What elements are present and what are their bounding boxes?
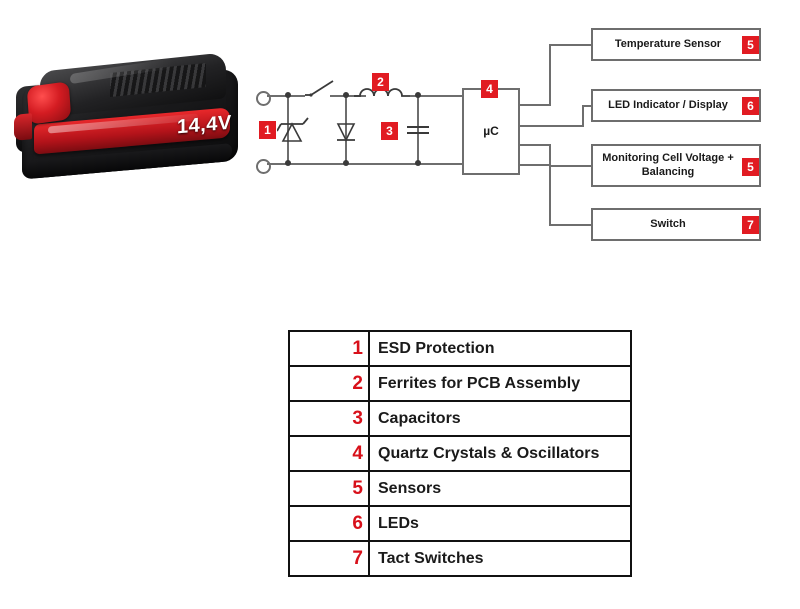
- wire-into-led: [582, 105, 591, 107]
- block-temperature-sensor-label: Temperature Sensor: [615, 38, 721, 52]
- wire-mcu-out-3: [520, 144, 551, 146]
- block-temperature-sensor[interactable]: Temperature Sensor: [591, 28, 761, 61]
- legend-row: 6 LEDs: [290, 507, 630, 542]
- badge-component-1: 1: [259, 121, 276, 139]
- legend-number: 7: [290, 542, 370, 575]
- node-tvs-top: [285, 92, 291, 98]
- wire-mcu-out-1: [520, 104, 551, 106]
- legend-row: 5 Sensors: [290, 472, 630, 507]
- badge-block-switch: 7: [742, 216, 759, 234]
- legend-number: 3: [290, 402, 370, 435]
- block-led-indicator[interactable]: LED Indicator / Display: [591, 89, 761, 122]
- legend-text: LEDs: [370, 507, 630, 540]
- node-diode-bottom: [343, 160, 349, 166]
- wire-mcu-out-4: [520, 164, 551, 166]
- battery-release-button: [27, 81, 72, 125]
- tvs-diode-symbol: [277, 110, 313, 150]
- switch-symbol: [303, 78, 337, 102]
- battery-voltage-label: 14,4V: [177, 112, 232, 140]
- capacitor-symbol: [405, 118, 431, 142]
- node-diode-top: [343, 92, 349, 98]
- block-switch-label: Switch: [650, 218, 685, 232]
- wire-riser-4: [549, 164, 551, 226]
- wire-bottom-rail: [267, 163, 463, 165]
- legend-table: 1 ESD Protection 2 Ferrites for PCB Asse…: [288, 330, 632, 577]
- legend-number: 1: [290, 332, 370, 365]
- legend-text: Capacitors: [370, 402, 630, 435]
- block-led-indicator-label: LED Indicator / Display: [608, 99, 728, 113]
- block-switch[interactable]: Switch: [591, 208, 761, 241]
- wire-into-switch: [549, 224, 591, 226]
- wire-riser-1: [549, 44, 551, 106]
- badge-block-led-indicator: 6: [742, 97, 759, 115]
- legend-number: 2: [290, 367, 370, 400]
- wire-into-monitor: [549, 165, 591, 167]
- block-cell-monitoring[interactable]: Monitoring Cell Voltage + Balancing: [591, 144, 761, 187]
- battery-pack-image: 14,4V: [14, 56, 250, 178]
- node-tvs-bottom: [285, 160, 291, 166]
- legend-row: 2 Ferrites for PCB Assembly: [290, 367, 630, 402]
- wire-mcu-out-2: [520, 125, 584, 127]
- legend-text: ESD Protection: [370, 332, 630, 365]
- legend-number: 5: [290, 472, 370, 505]
- legend-text: Ferrites for PCB Assembly: [370, 367, 630, 400]
- mcu-label: µC: [462, 124, 520, 138]
- badge-component-4: 4: [481, 80, 498, 98]
- legend-row: 1 ESD Protection: [290, 332, 630, 367]
- block-cell-monitoring-label: Monitoring Cell Voltage + Balancing: [599, 152, 737, 180]
- node-cap-bottom: [415, 160, 421, 166]
- diode-symbol: [336, 116, 356, 146]
- badge-block-temperature-sensor: 5: [742, 36, 759, 54]
- terminal-positive: [256, 91, 271, 106]
- legend-row: 3 Capacitors: [290, 402, 630, 437]
- legend-text: Sensors: [370, 472, 630, 505]
- legend-number: 6: [290, 507, 370, 540]
- legend-number: 4: [290, 437, 370, 470]
- legend-text: Tact Switches: [370, 542, 630, 575]
- legend-row: 4 Quartz Crystals & Oscillators: [290, 437, 630, 472]
- badge-component-3: 3: [381, 122, 398, 140]
- badge-component-2: 2: [372, 73, 389, 91]
- legend-text: Quartz Crystals & Oscillators: [370, 437, 630, 470]
- legend-row: 7 Tact Switches: [290, 542, 630, 577]
- battery-red-edge: [14, 113, 32, 141]
- node-cap-top: [415, 92, 421, 98]
- wire-into-temp: [549, 44, 591, 46]
- badge-block-cell-monitoring: 5: [742, 158, 759, 176]
- wire-riser-2: [582, 105, 584, 127]
- terminal-negative: [256, 159, 271, 174]
